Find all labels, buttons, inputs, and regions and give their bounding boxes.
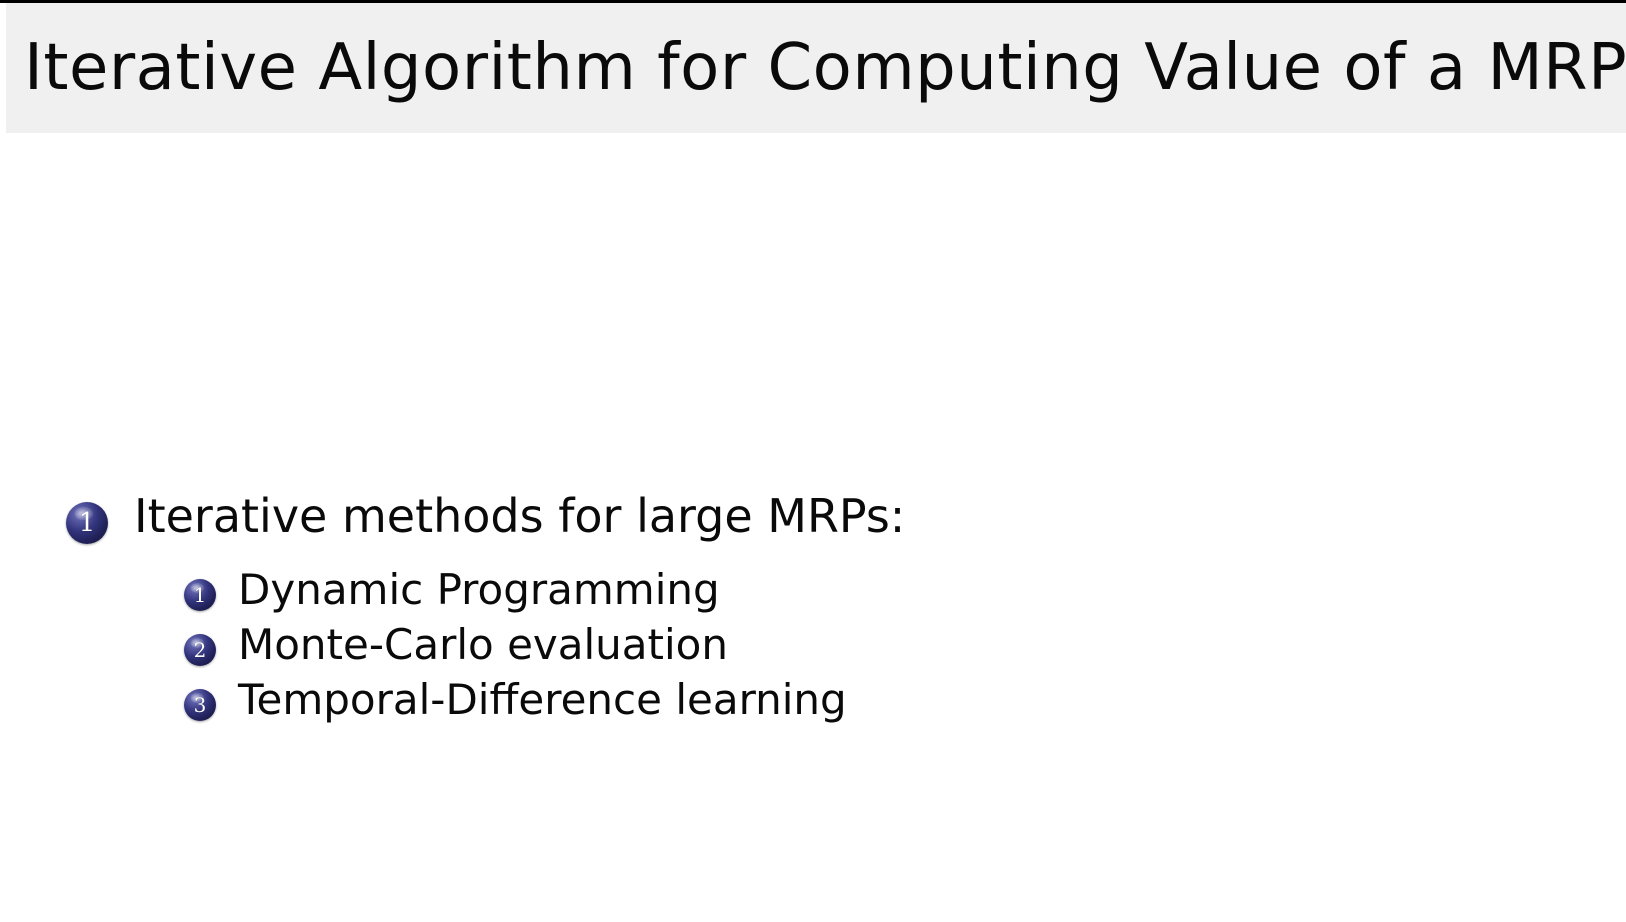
outline-list: 1 Iterative methods for large MRPs: 1 Dy… xyxy=(66,496,1546,735)
bullet-number: 3 xyxy=(194,693,207,717)
list-item-label: Dynamic Programming xyxy=(238,568,720,612)
outline-sublist: 1 Dynamic Programming 2 Monte-Carlo eval… xyxy=(184,570,1546,722)
numbered-bullet-icon: 1 xyxy=(66,502,108,544)
slide-body: 1 Iterative methods for large MRPs: 1 Dy… xyxy=(0,133,1626,922)
list-item: 3 Temporal-Difference learning xyxy=(184,680,1546,722)
list-item: 1 Iterative methods for large MRPs: xyxy=(66,496,1546,544)
bullet-number: 2 xyxy=(194,638,207,662)
list-item-label: Monte-Carlo evaluation xyxy=(238,623,728,667)
slide-header-band: Iterative Algorithm for Computing Value … xyxy=(6,3,1626,133)
numbered-bullet-icon: 2 xyxy=(184,634,216,666)
bullet-number: 1 xyxy=(79,508,96,538)
numbered-bullet-icon: 3 xyxy=(184,689,216,721)
page-title: Iterative Algorithm for Computing Value … xyxy=(24,36,1626,100)
list-item-label: Temporal-Difference learning xyxy=(238,678,847,722)
list-item: 1 Dynamic Programming xyxy=(184,570,1546,612)
numbered-bullet-icon: 1 xyxy=(184,579,216,611)
bullet-number: 1 xyxy=(194,583,207,607)
list-item: 2 Monte-Carlo evaluation xyxy=(184,625,1546,667)
list-item-label: Iterative methods for large MRPs: xyxy=(134,492,905,540)
